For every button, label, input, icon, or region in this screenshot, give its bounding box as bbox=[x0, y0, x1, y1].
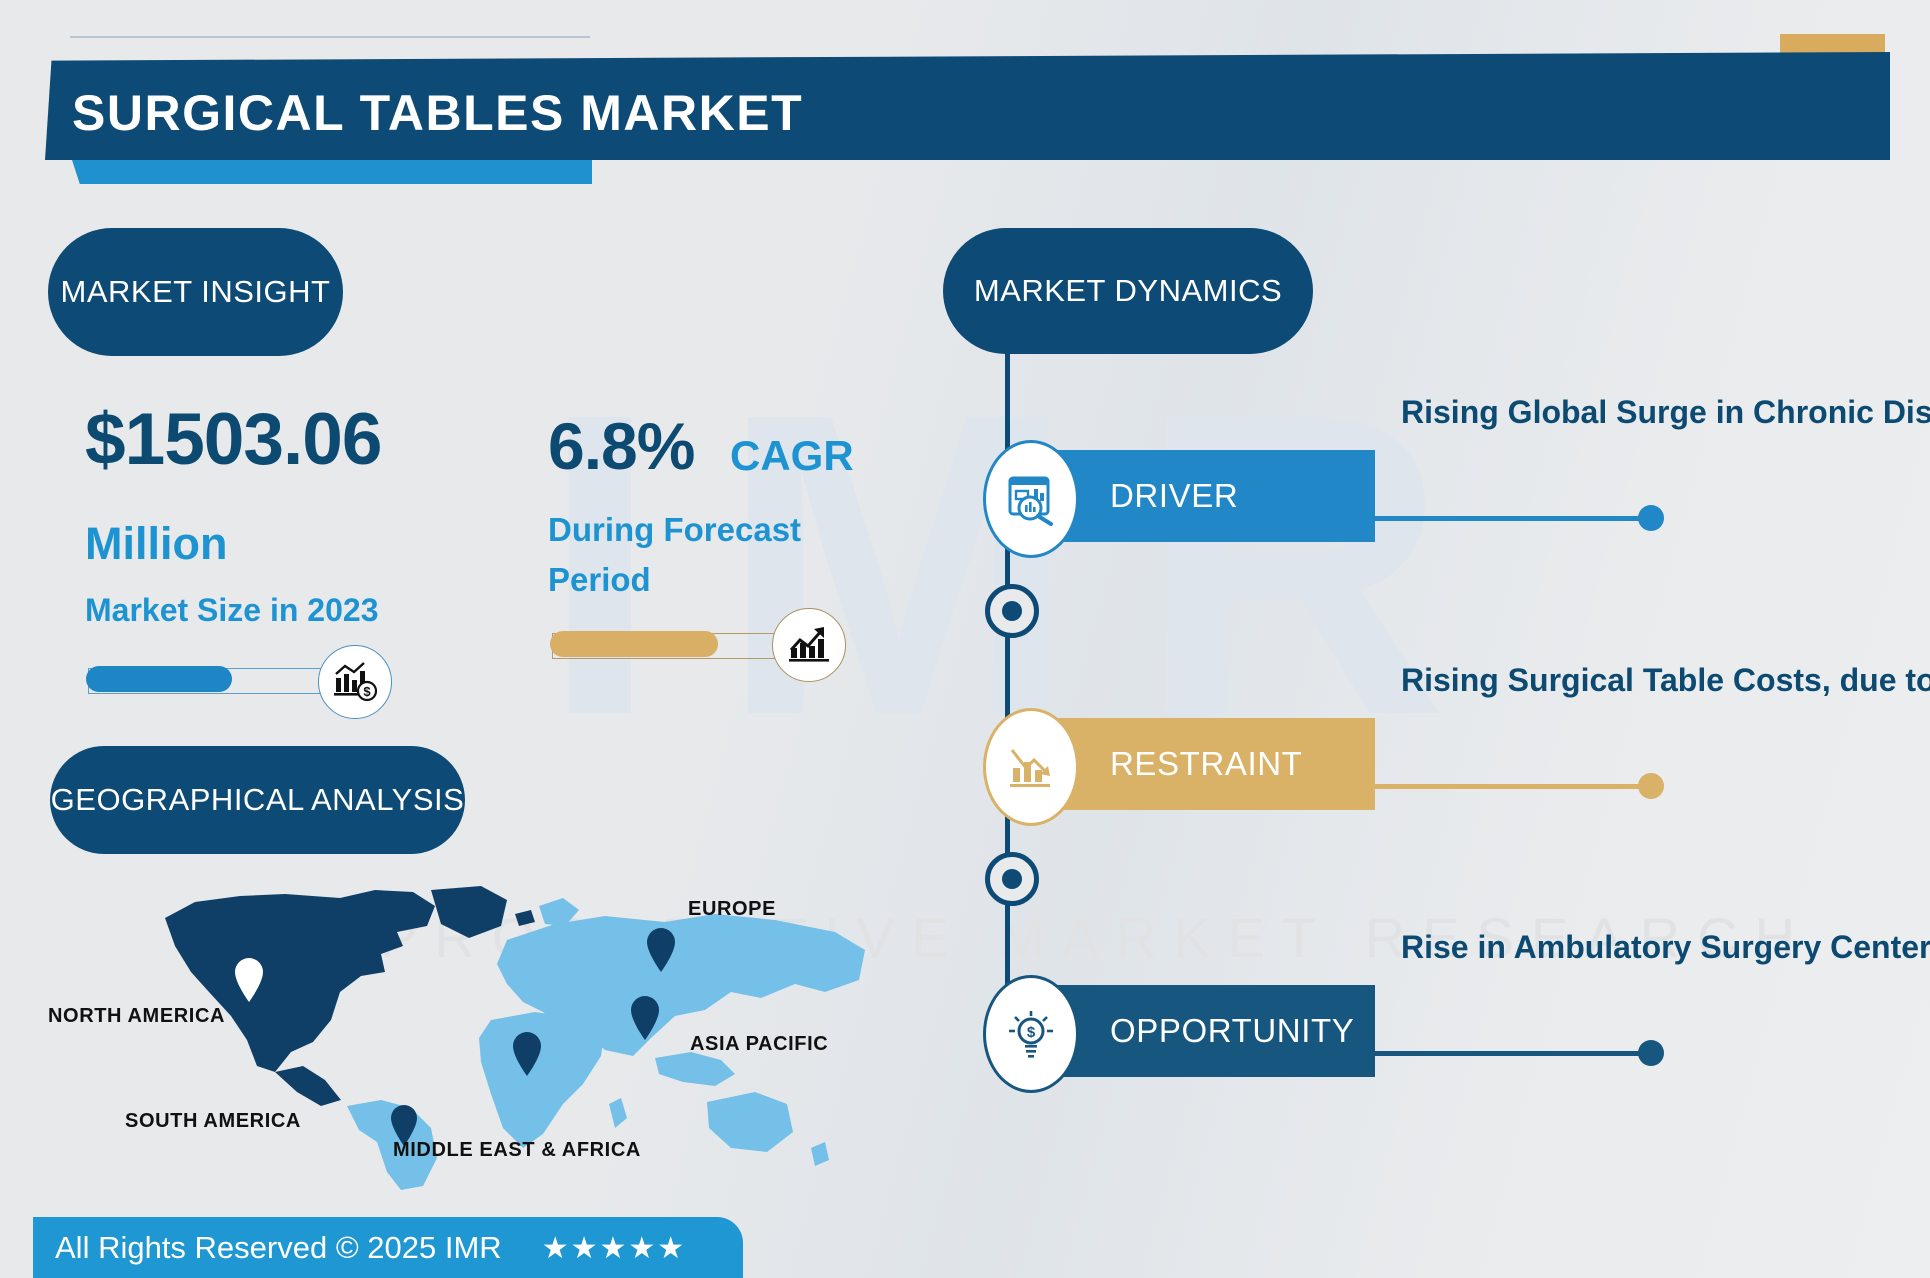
restraint-description: Rising Surgical Table Costs, due to expe… bbox=[1401, 658, 1930, 702]
svg-text:$: $ bbox=[1027, 1024, 1036, 1041]
page-title: SURGICAL TABLES MARKET bbox=[72, 78, 1272, 148]
lightbulb-dollar-icon: $ bbox=[983, 975, 1079, 1093]
lightbulb-dollar-glyph: $ bbox=[1004, 1007, 1058, 1061]
geographical-analysis-pill: GEOGRAPHICAL ANALYSIS bbox=[50, 746, 465, 854]
cagr-forecast-caption: During Forecast Period bbox=[548, 505, 878, 604]
map-region-new-zealand bbox=[811, 1142, 829, 1166]
market-insight-pill: MARKET INSIGHT bbox=[48, 228, 343, 356]
market-size-value: $1503.06 bbox=[85, 398, 381, 481]
opportunity-leader-dot bbox=[1638, 1040, 1664, 1066]
report-magnifier-icon bbox=[983, 440, 1079, 558]
cagr-progress-fill bbox=[550, 631, 718, 657]
header-rule bbox=[70, 36, 590, 38]
timeline-node-1 bbox=[985, 584, 1039, 638]
map-region-madagascar bbox=[609, 1098, 627, 1128]
timeline-node-2 bbox=[985, 852, 1039, 906]
restraint-leader-line bbox=[1375, 784, 1645, 789]
map-label-middle-east-africa: MIDDLE EAST & AFRICA bbox=[393, 1139, 641, 1162]
restraint-label: RESTRAINT bbox=[1110, 745, 1302, 783]
map-region-mexico bbox=[275, 1066, 341, 1106]
declining-chart-glyph bbox=[1004, 740, 1058, 794]
driver-label: DRIVER bbox=[1110, 477, 1238, 515]
map-label-north-america: NORTH AMERICA bbox=[48, 1005, 225, 1028]
opportunity-label: OPPORTUNITY bbox=[1110, 1012, 1354, 1050]
header-blue-accent bbox=[72, 160, 592, 184]
bar-chart-dollar-glyph: $ bbox=[332, 660, 378, 704]
infographic-canvas: IMR PROSPECTIVE MARKET RESEARCH SURGICAL… bbox=[0, 0, 1930, 1278]
market-dynamics-pill: MARKET DYNAMICS bbox=[943, 228, 1313, 354]
svg-text:$: $ bbox=[363, 684, 371, 699]
map-region-australia bbox=[707, 1092, 793, 1152]
bar-chart-dollar-icon: $ bbox=[318, 645, 392, 719]
growth-chart-glyph bbox=[786, 624, 832, 666]
map-label-europe: EUROPE bbox=[688, 898, 776, 921]
map-region-sea bbox=[655, 1052, 735, 1086]
map-icelands bbox=[515, 910, 535, 926]
map-label-south-america: SOUTH AMERICA bbox=[125, 1110, 301, 1133]
growth-chart-icon bbox=[772, 608, 846, 682]
market-size-progress-fill bbox=[86, 666, 232, 692]
map-region-africa bbox=[479, 1012, 605, 1148]
restraint-leader-dot bbox=[1638, 773, 1664, 799]
opportunity-leader-line bbox=[1375, 1051, 1645, 1056]
market-size-unit: Million bbox=[85, 518, 227, 570]
cagr-label: CAGR bbox=[730, 432, 854, 480]
copyright-text: All Rights Reserved © 2025 IMR bbox=[55, 1230, 502, 1266]
declining-chart-icon bbox=[983, 708, 1079, 826]
map-region-greenland bbox=[431, 886, 507, 938]
opportunity-description: Rise in Ambulatory Surgery Centers (ASCs… bbox=[1401, 925, 1930, 969]
map-label-asia-pacific: ASIA PACIFIC bbox=[690, 1033, 828, 1056]
driver-description: Rising Global Surge in Chronic Disease P… bbox=[1401, 390, 1930, 434]
driver-leader-line bbox=[1375, 516, 1645, 521]
footer-bar: All Rights Reserved © 2025 IMR ★★★★★ bbox=[33, 1217, 743, 1278]
report-magnifier-glyph bbox=[1004, 472, 1058, 526]
cagr-value: 6.8% bbox=[548, 408, 694, 484]
driver-leader-dot bbox=[1638, 505, 1664, 531]
rating-stars: ★★★★★ bbox=[542, 1231, 686, 1266]
map-region-north-america bbox=[165, 890, 435, 1072]
market-size-caption: Market Size in 2023 bbox=[85, 592, 378, 629]
